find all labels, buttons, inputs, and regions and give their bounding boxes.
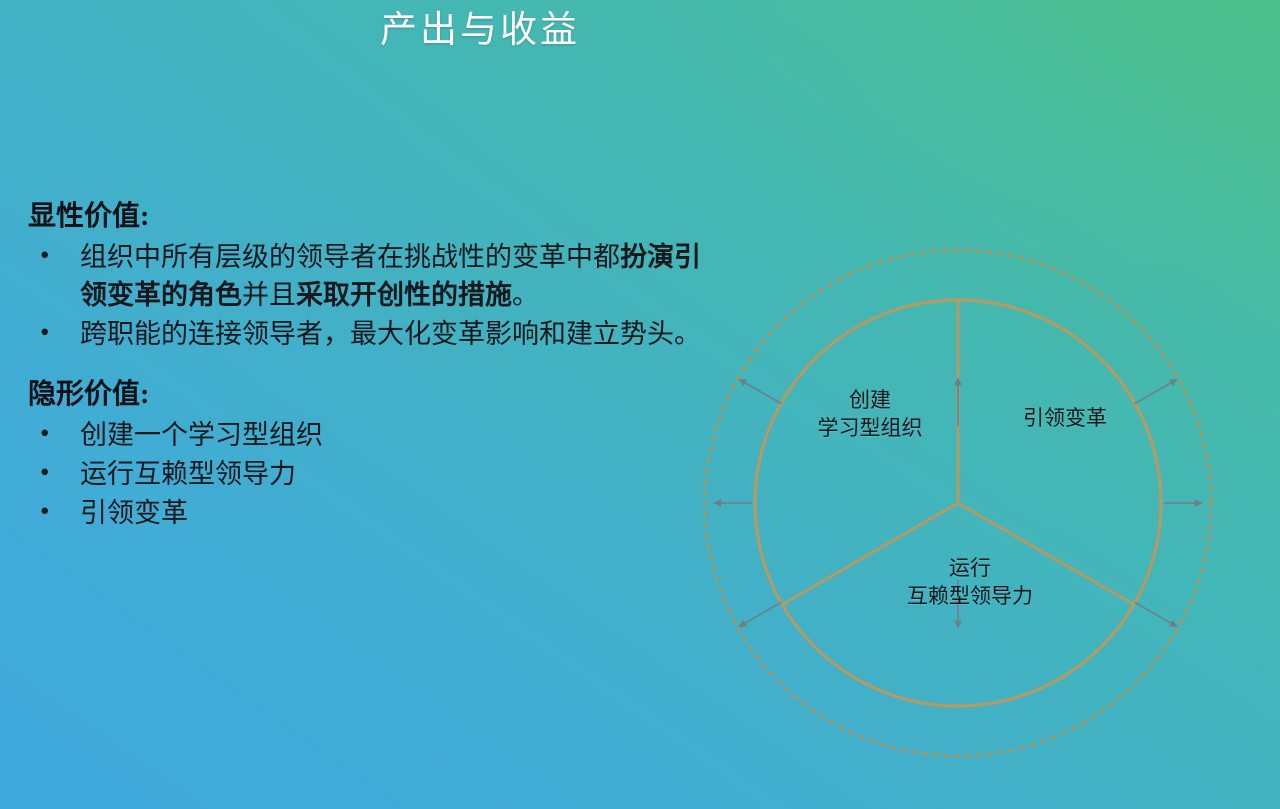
slide-canvas: 产出与收益 显性价值: 组织中所有层级的领导者在挑战性的变革中都扮演引领变革的角… [0,0,1280,809]
section-heading-implicit: 隐形价值: [28,376,718,414]
segment-label-line: 创建 [770,387,970,415]
three-segment-wheel-diagram: 创建 学习型组织 引领变革 运行 互赖型领导力 [700,225,1230,795]
list-item: 跨职能的连接领导者，最大化变革影响和建立势头。 [28,315,718,353]
list-item: 组织中所有层级的领导者在挑战性的变革中都扮演引领变革的角色并且采取开创性的措施。 [28,238,718,315]
bullet-text-segment: 跨职能的连接领导者，最大化变革影响和建立势头。 [80,319,701,349]
bullet-text-segment: 引领变革 [80,498,188,528]
bullet-text-segment: 。 [512,280,539,310]
section-heading-explicit: 显性价值: [28,198,718,236]
outward-arrow-lower-left [739,602,781,626]
bullet-list-explicit: 组织中所有层级的领导者在挑战性的变革中都扮演引领变革的角色并且采取开创性的措施。… [28,238,718,354]
wheel-svg [700,225,1230,795]
segment-label-line: 互赖型领导力 [860,583,1080,611]
outward-arrow-upper-right [1135,379,1177,403]
segment-label-line: 学习型组织 [770,415,970,443]
bullet-text-segment: 组织中所有层级的领导者在挑战性的变革中都 [80,242,620,272]
bullet-list-implicit: 创建一个学习型组织 运行互赖型领导力 引领变革 [28,416,718,533]
segment-label-run-interdependent-leadership: 运行 互赖型领导力 [860,555,1080,610]
list-item: 引领变革 [28,494,718,532]
list-item: 创建一个学习型组织 [28,416,718,454]
content-column: 显性价值: 组织中所有层级的领导者在挑战性的变革中都扮演引领变革的角色并且采取开… [28,198,718,534]
segment-label-create-learning-org: 创建 学习型组织 [770,387,970,442]
page-title: 产出与收益 [0,8,960,52]
outward-arrow-lower-right [1135,602,1177,626]
bullet-text-segment: 运行互赖型领导力 [80,459,296,489]
segment-label-line: 引领变革 [970,405,1160,433]
content-group-implicit-value: 隐形价值: 创建一个学习型组织 运行互赖型领导力 引领变革 [28,376,718,533]
bullet-text-segment-bold: 采取开创性的措施 [296,280,512,310]
bullet-text-segment: 创建一个学习型组织 [80,420,323,450]
list-item: 运行互赖型领导力 [28,455,718,493]
segment-label-lead-change: 引领变革 [970,405,1160,433]
bullet-text-segment: 并且 [242,280,296,310]
content-group-explicit-value: 显性价值: 组织中所有层级的领导者在挑战性的变革中都扮演引领变革的角色并且采取开… [28,198,718,354]
segment-label-line: 运行 [860,555,1080,583]
